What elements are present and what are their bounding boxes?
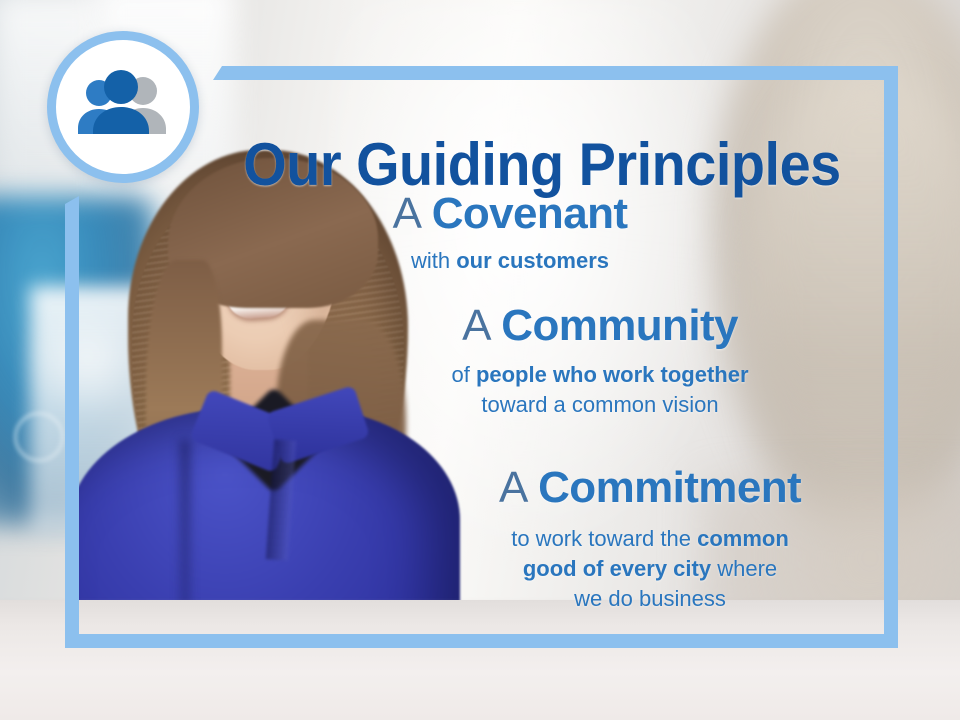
principle-article: A	[499, 463, 526, 512]
principle-article: A	[462, 301, 489, 350]
principle-subtext: to work toward the common good of every …	[440, 524, 860, 614]
principle-commitment: A Commitment to work toward the common g…	[440, 462, 860, 614]
subtext-line: we do business	[440, 584, 860, 614]
subtext-line: of people who work together	[380, 360, 820, 390]
subtext-part: of	[451, 362, 475, 387]
subtext-line: toward a common vision	[380, 390, 820, 420]
subtext-part: we do business	[574, 586, 726, 611]
principle-covenant: A Covenant with our customers	[330, 188, 690, 276]
principle-community: A Community of people who work together …	[380, 300, 820, 420]
poster-content: Our Guiding Principles A Covenant with o…	[0, 0, 960, 720]
guiding-principles-poster: FLOW AUTOMOTIVE FLOW	[0, 0, 960, 720]
subtext-part: toward a common vision	[481, 392, 718, 417]
subtext-part: to work toward the	[511, 526, 697, 551]
principle-word: Commitment	[538, 463, 801, 512]
principle-heading: A Community	[380, 300, 820, 352]
subtext-part-bold: people who work together	[476, 362, 749, 387]
principle-article: A	[393, 189, 420, 238]
subtext-part-bold: common	[697, 526, 789, 551]
subtext-part-bold: good of every city	[523, 556, 711, 581]
principle-heading: A Covenant	[330, 188, 690, 240]
principle-word: Covenant	[432, 189, 628, 238]
subtext-part: with	[411, 248, 456, 273]
subtext-line: to work toward the common	[440, 524, 860, 554]
subtext-line: good of every city where	[440, 554, 860, 584]
subtext-part: where	[711, 556, 777, 581]
subtext-part-bold: our customers	[456, 248, 609, 273]
principle-subtext: with our customers	[330, 246, 690, 276]
principle-heading: A Commitment	[440, 462, 860, 514]
principle-subtext: of people who work together toward a com…	[380, 360, 820, 420]
subtext-line: with our customers	[330, 246, 690, 276]
principle-word: Community	[501, 301, 738, 350]
